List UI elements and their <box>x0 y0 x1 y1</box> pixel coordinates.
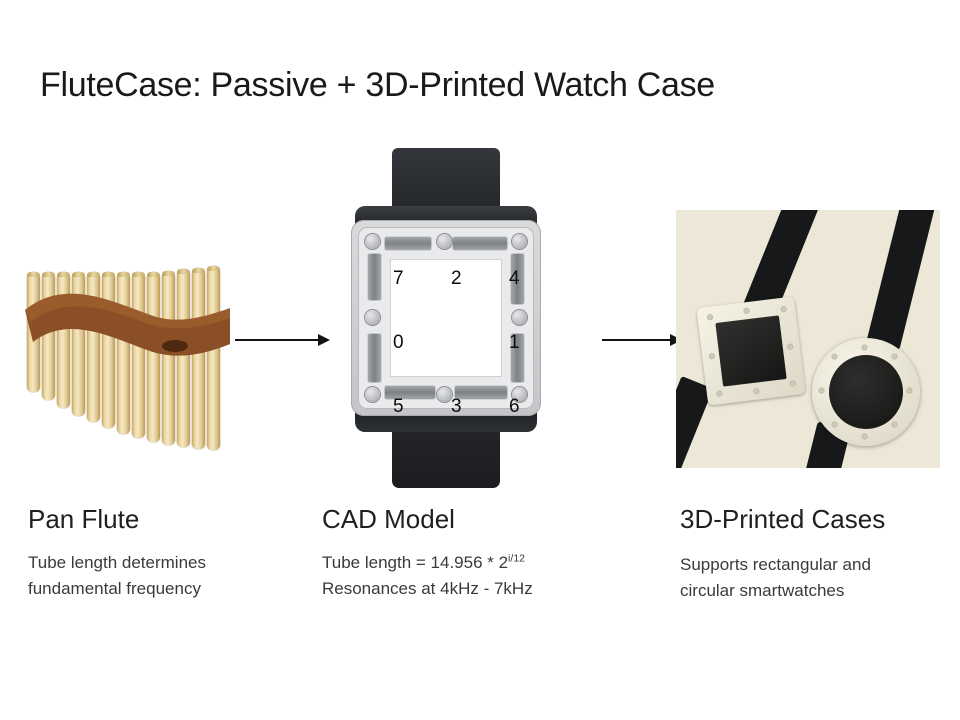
cad-model-heading: CAD Model <box>322 504 455 535</box>
printed-cases-heading: 3D-Printed Cases <box>680 504 885 535</box>
arrow-cad-to-cases <box>602 333 682 347</box>
case-port-top <box>437 234 452 249</box>
tube-channel-bottom-right <box>454 385 508 400</box>
case-screw-bottom-left <box>365 387 380 402</box>
tube-label-4: 4 <box>509 269 520 288</box>
case-port-bottom <box>437 387 452 402</box>
arrow-shaft <box>235 339 318 341</box>
pan-flute-heading: Pan Flute <box>28 504 139 535</box>
pan-flute-description: Tube length determines fundamental frequ… <box>28 550 206 603</box>
tube-label-1: 1 <box>509 333 520 352</box>
tube-label-2: 2 <box>451 269 462 288</box>
watch-case-frame: 7 2 4 0 1 5 3 6 <box>351 220 541 416</box>
tube-label-0: 0 <box>393 333 404 352</box>
circular-printed-case <box>812 338 920 446</box>
pan-flute-description-line-1: Tube length determines <box>28 550 206 576</box>
printed-cases-description-line-2: circular smartwatches <box>680 578 871 604</box>
tube-channel-bottom-left <box>384 385 436 400</box>
pan-flute-description-line-2: fundamental frequency <box>28 576 206 602</box>
tube-channel-left-lower <box>367 333 382 383</box>
arrow-flute-to-cad <box>235 333 330 347</box>
case-screw-top-left <box>365 234 380 249</box>
circular-strap-upper <box>866 210 935 350</box>
printed-cases-photo <box>676 210 940 468</box>
square-case-face <box>715 315 786 386</box>
cad-model-formula-base: Tube length = 14.956 * 2 <box>322 553 508 572</box>
printed-cases-description: Supports rectangular and circular smartw… <box>680 552 871 605</box>
case-port-left <box>365 310 380 325</box>
arrow-shaft <box>602 339 670 341</box>
tube-channel-top-left <box>384 236 432 251</box>
cad-model-resonance: Resonances at 4kHz - 7kHz <box>322 576 533 602</box>
page-title: FluteCase: Passive + 3D-Printed Watch Ca… <box>40 66 715 105</box>
case-screw-top-right <box>512 234 527 249</box>
watch-case-inner: 7 2 4 0 1 5 3 6 <box>358 227 534 409</box>
tube-label-6: 6 <box>509 397 520 416</box>
cad-model-formula-exponent: i/12 <box>508 552 525 564</box>
square-printed-case <box>696 296 805 405</box>
tube-label-5: 5 <box>393 397 404 416</box>
cad-model-description: Tube length = 14.956 * 2i/12 Resonances … <box>322 550 533 603</box>
tube-label-7: 7 <box>393 269 404 288</box>
tube-channel-top-right <box>452 236 508 251</box>
arrow-head <box>318 334 330 346</box>
cad-watch-render: 7 2 4 0 1 5 3 6 <box>348 148 544 488</box>
pan-flute-photo <box>25 258 230 450</box>
slide-root: FluteCase: Passive + 3D-Printed Watch Ca… <box>0 0 960 720</box>
cad-model-formula: Tube length = 14.956 * 2i/12 <box>322 550 533 576</box>
circular-case-face <box>829 355 903 429</box>
tube-channel-left-upper <box>367 253 382 301</box>
watch-screen <box>391 260 501 376</box>
tube-label-3: 3 <box>451 397 462 416</box>
printed-cases-description-line-1: Supports rectangular and <box>680 552 871 578</box>
case-port-right <box>512 310 527 325</box>
